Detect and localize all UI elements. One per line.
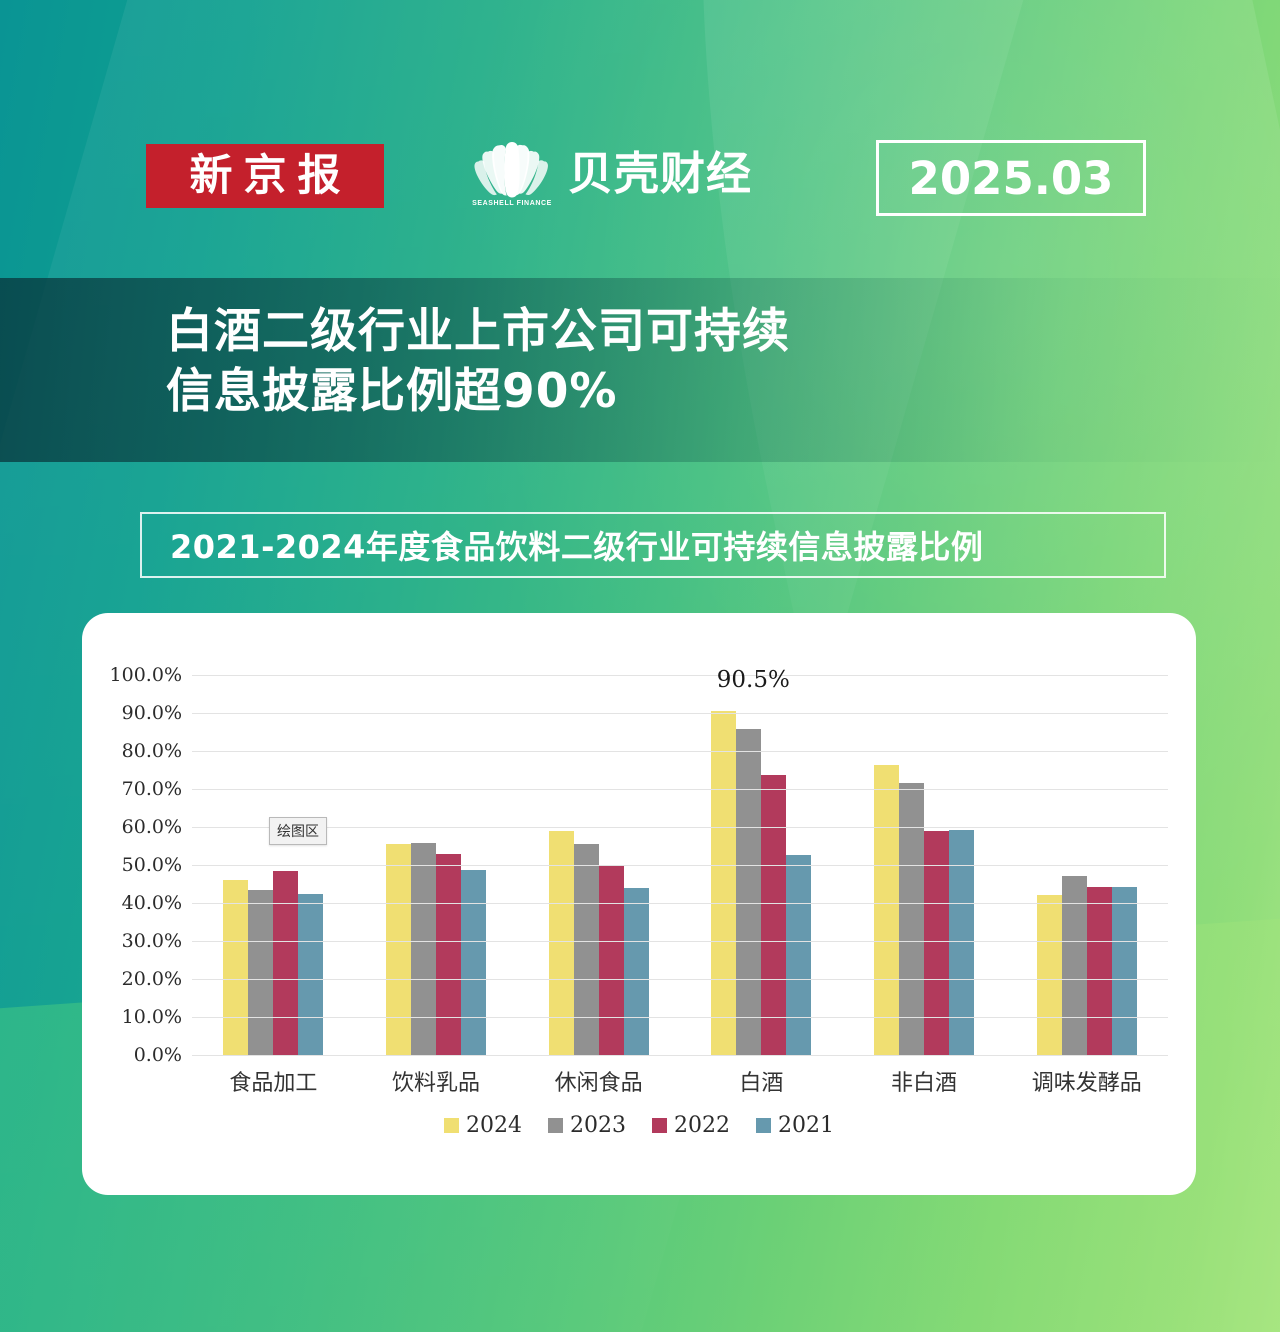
bar[interactable] bbox=[273, 871, 298, 1055]
brand-name: 贝壳财经 bbox=[568, 151, 752, 196]
legend-swatch bbox=[756, 1118, 771, 1133]
gridline bbox=[192, 979, 1168, 980]
x-axis-tick-label: 食品加工 bbox=[192, 1065, 355, 1097]
plot-area-tooltip: 绘图区 bbox=[269, 817, 327, 845]
publisher-logo: 新京报 bbox=[146, 144, 384, 208]
bar[interactable] bbox=[223, 880, 248, 1055]
bar[interactable] bbox=[599, 865, 624, 1055]
gridline bbox=[192, 865, 1168, 866]
gridline bbox=[192, 751, 1168, 752]
bar[interactable] bbox=[786, 855, 811, 1055]
y-axis-tick-label: 30.0% bbox=[90, 930, 182, 952]
y-axis-tick-label: 60.0% bbox=[90, 816, 182, 838]
bar[interactable] bbox=[899, 783, 924, 1055]
bar[interactable] bbox=[411, 843, 436, 1055]
bar[interactable] bbox=[736, 729, 761, 1055]
brand-sub-text: SEASHELL FINANCE bbox=[470, 200, 554, 207]
gridline bbox=[192, 827, 1168, 828]
chart-subtitle: 2021-2024年度食品饮料二级行业可持续信息披露比例 bbox=[170, 522, 983, 568]
bar[interactable] bbox=[1112, 887, 1137, 1055]
chart-subtitle-box: 2021-2024年度食品饮料二级行业可持续信息披露比例 bbox=[140, 512, 1166, 578]
x-axis: 食品加工饮料乳品休闲食品白酒非白酒调味发酵品 bbox=[192, 1065, 1168, 1097]
bar[interactable] bbox=[298, 894, 323, 1055]
y-axis-tick-label: 40.0% bbox=[90, 892, 182, 914]
y-axis-tick-label: 80.0% bbox=[90, 740, 182, 762]
legend-item[interactable]: 2024 bbox=[444, 1113, 522, 1138]
page-title-line1: 白酒二级行业上市公司可持续 bbox=[166, 304, 790, 359]
y-axis-tick-label: 70.0% bbox=[90, 778, 182, 800]
bar[interactable] bbox=[1087, 887, 1112, 1055]
gridline bbox=[192, 903, 1168, 904]
x-axis-tick-label: 非白酒 bbox=[843, 1065, 1006, 1097]
x-axis-tick-label: 饮料乳品 bbox=[355, 1065, 518, 1097]
page-title: 白酒二级行业上市公司可持续 信息披露比例超90% bbox=[166, 302, 1066, 422]
bar[interactable] bbox=[436, 854, 461, 1055]
chart-legend: 2024202320222021 bbox=[82, 1113, 1196, 1138]
gridline bbox=[192, 941, 1168, 942]
bar[interactable] bbox=[761, 775, 786, 1055]
bar[interactable] bbox=[949, 830, 974, 1055]
x-axis-tick-label: 白酒 bbox=[680, 1065, 843, 1097]
bar[interactable] bbox=[711, 711, 736, 1055]
gridline bbox=[192, 1055, 1168, 1056]
data-label: 90.5% bbox=[717, 667, 790, 693]
publisher-logo-text: 新京报 bbox=[179, 155, 352, 198]
gridline bbox=[192, 675, 1168, 676]
bar[interactable] bbox=[624, 888, 649, 1055]
x-axis-tick-label: 调味发酵品 bbox=[1005, 1065, 1168, 1097]
bar[interactable] bbox=[1037, 895, 1062, 1055]
legend-swatch bbox=[652, 1118, 667, 1133]
chart: 100.0%90.0%80.0%70.0%60.0%50.0%40.0%30.0… bbox=[82, 613, 1196, 1195]
y-axis-tick-label: 50.0% bbox=[90, 854, 182, 876]
date-badge: 2025.03 bbox=[876, 140, 1146, 216]
y-axis-tick-label: 90.0% bbox=[90, 702, 182, 724]
x-axis-tick-label: 休闲食品 bbox=[517, 1065, 680, 1097]
legend-item[interactable]: 2023 bbox=[548, 1113, 626, 1138]
legend-label: 2022 bbox=[674, 1113, 730, 1138]
plot-area: 90.5%绘图区 bbox=[192, 675, 1168, 1055]
legend-label: 2024 bbox=[466, 1113, 522, 1138]
bar[interactable] bbox=[874, 765, 899, 1055]
bar[interactable] bbox=[386, 844, 411, 1055]
gridline bbox=[192, 1017, 1168, 1018]
page-title-line2: 信息披露比例超90% bbox=[166, 362, 1066, 422]
date-text: 2025.03 bbox=[909, 152, 1114, 205]
y-axis-tick-label: 20.0% bbox=[90, 968, 182, 990]
chart-card: 100.0%90.0%80.0%70.0%60.0%50.0%40.0%30.0… bbox=[82, 613, 1196, 1195]
gridline bbox=[192, 713, 1168, 714]
seashell-icon: SEASHELL FINANCE bbox=[470, 140, 554, 212]
bar[interactable] bbox=[574, 844, 599, 1055]
legend-swatch bbox=[444, 1118, 459, 1133]
y-axis-tick-label: 0.0% bbox=[90, 1044, 182, 1066]
legend-label: 2023 bbox=[570, 1113, 626, 1138]
y-axis: 100.0%90.0%80.0%70.0%60.0%50.0%40.0%30.0… bbox=[90, 675, 182, 1055]
y-axis-tick-label: 100.0% bbox=[90, 664, 182, 686]
bar[interactable] bbox=[461, 870, 486, 1055]
legend-item[interactable]: 2021 bbox=[756, 1113, 834, 1138]
legend-item[interactable]: 2022 bbox=[652, 1113, 730, 1138]
brand-lockup: SEASHELL FINANCE 贝壳财经 bbox=[470, 140, 752, 212]
y-axis-tick-label: 10.0% bbox=[90, 1006, 182, 1028]
legend-label: 2021 bbox=[778, 1113, 834, 1138]
bar[interactable] bbox=[248, 890, 273, 1055]
gridline bbox=[192, 789, 1168, 790]
legend-swatch bbox=[548, 1118, 563, 1133]
